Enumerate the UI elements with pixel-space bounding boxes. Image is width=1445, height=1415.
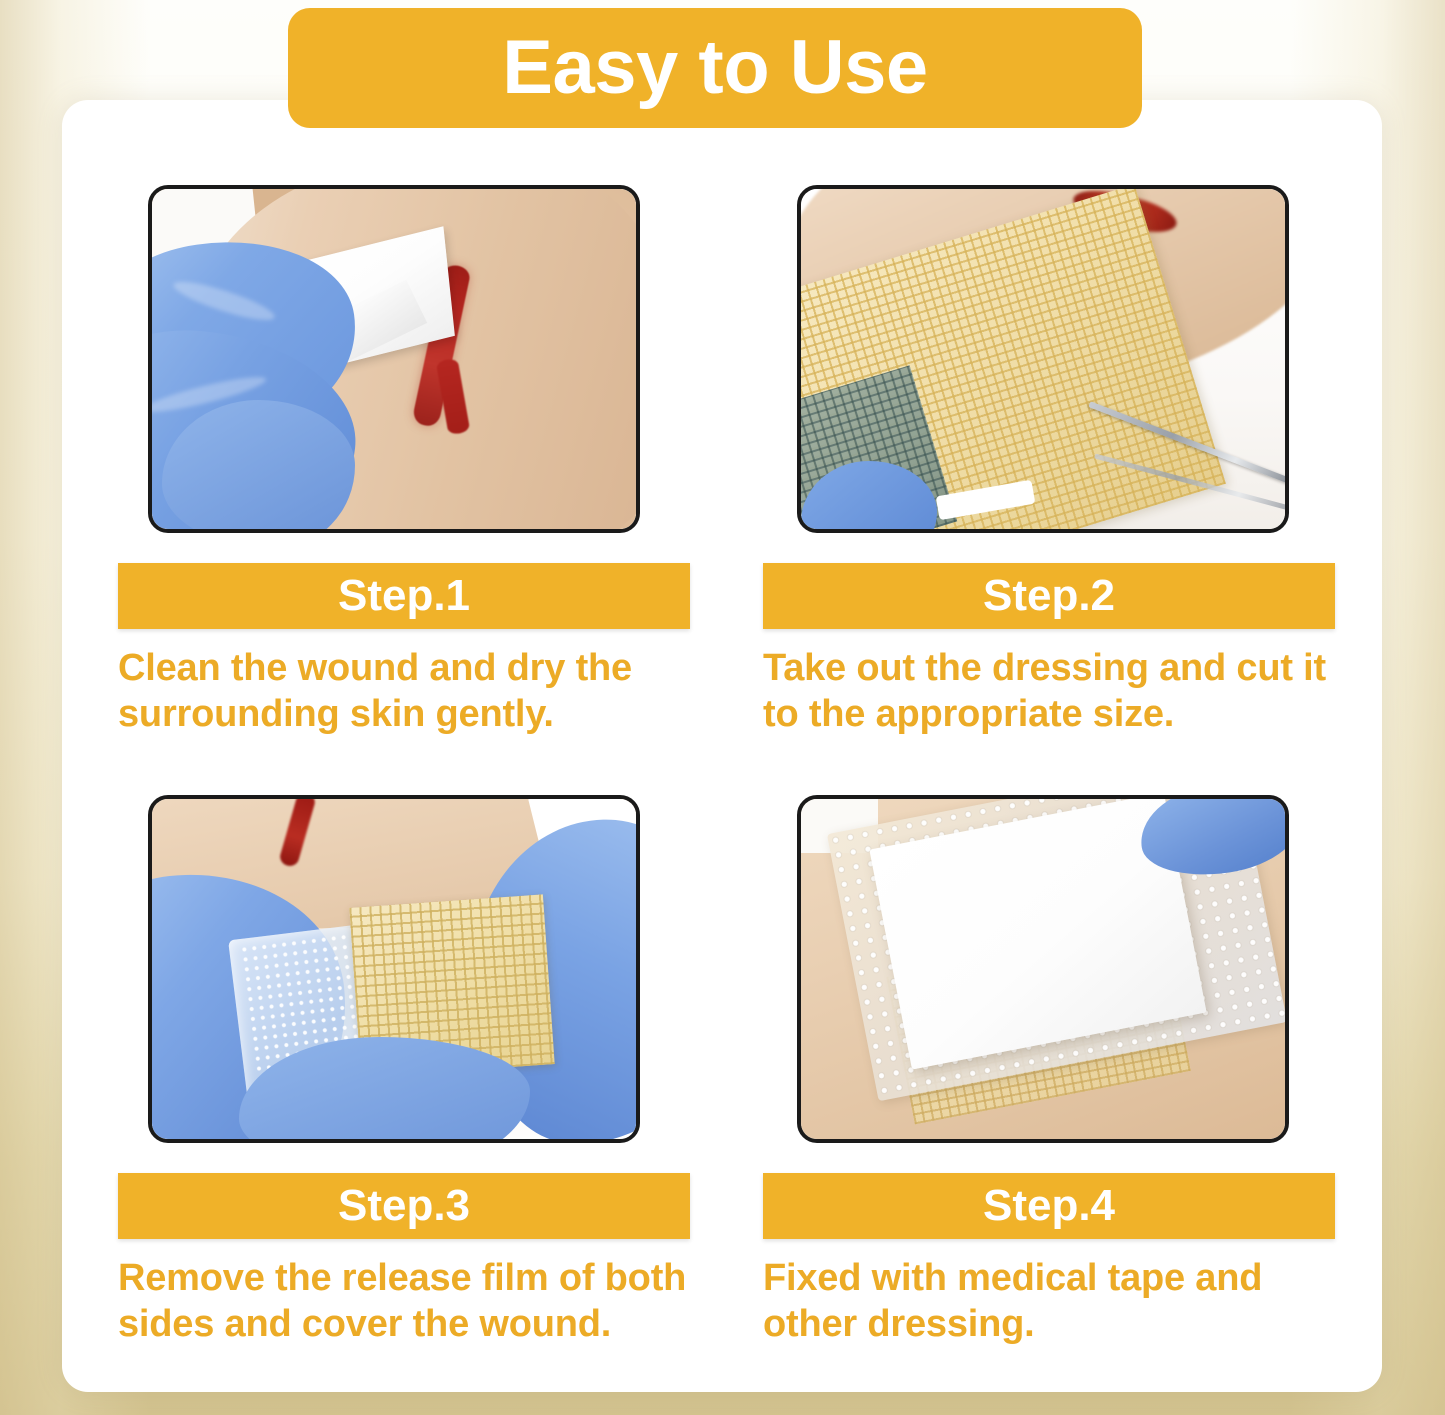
step-card-2: Step.2 Take out the dressing and cut it …: [763, 185, 1355, 738]
step-2-label: Step.2: [983, 574, 1115, 618]
step-1-photo-frame: [148, 185, 640, 533]
step-1-label: Step.1: [338, 574, 470, 618]
page-title-banner: Easy to Use: [288, 8, 1142, 128]
step-3-photo-frame: [148, 795, 640, 1143]
step-3-label-bar: Step.3: [118, 1173, 690, 1239]
step-1-label-bar: Step.1: [118, 563, 690, 629]
step-1-description: Clean the wound and dry the surrounding …: [118, 645, 698, 738]
step-1-photo: [152, 189, 636, 529]
step-card-3: Step.3 Remove the release film of both s…: [118, 795, 710, 1348]
step-3-label: Step.3: [338, 1184, 470, 1228]
step-4-photo-frame: [797, 795, 1289, 1143]
steps-grid: Step.1 Clean the wound and dry the surro…: [0, 0, 1445, 1415]
step-2-photo-frame: [797, 185, 1289, 533]
step-4-photo: [801, 799, 1285, 1139]
step-card-1: Step.1 Clean the wound and dry the surro…: [118, 185, 710, 738]
step-3-photo: [152, 799, 636, 1139]
step-4-label-bar: Step.4: [763, 1173, 1335, 1239]
step-4-label: Step.4: [983, 1184, 1115, 1228]
step-2-photo: [801, 189, 1285, 529]
page-title: Easy to Use: [502, 30, 927, 106]
infographic-page: Easy to Use: [0, 0, 1445, 1415]
step-2-description: Take out the dressing and cut it to the …: [763, 645, 1343, 738]
step-4-description: Fixed with medical tape and other dressi…: [763, 1255, 1343, 1348]
step-2-label-bar: Step.2: [763, 563, 1335, 629]
step-card-4: Step.4 Fixed with medical tape and other…: [763, 795, 1355, 1348]
step-3-description: Remove the release film of both sides an…: [118, 1255, 698, 1348]
